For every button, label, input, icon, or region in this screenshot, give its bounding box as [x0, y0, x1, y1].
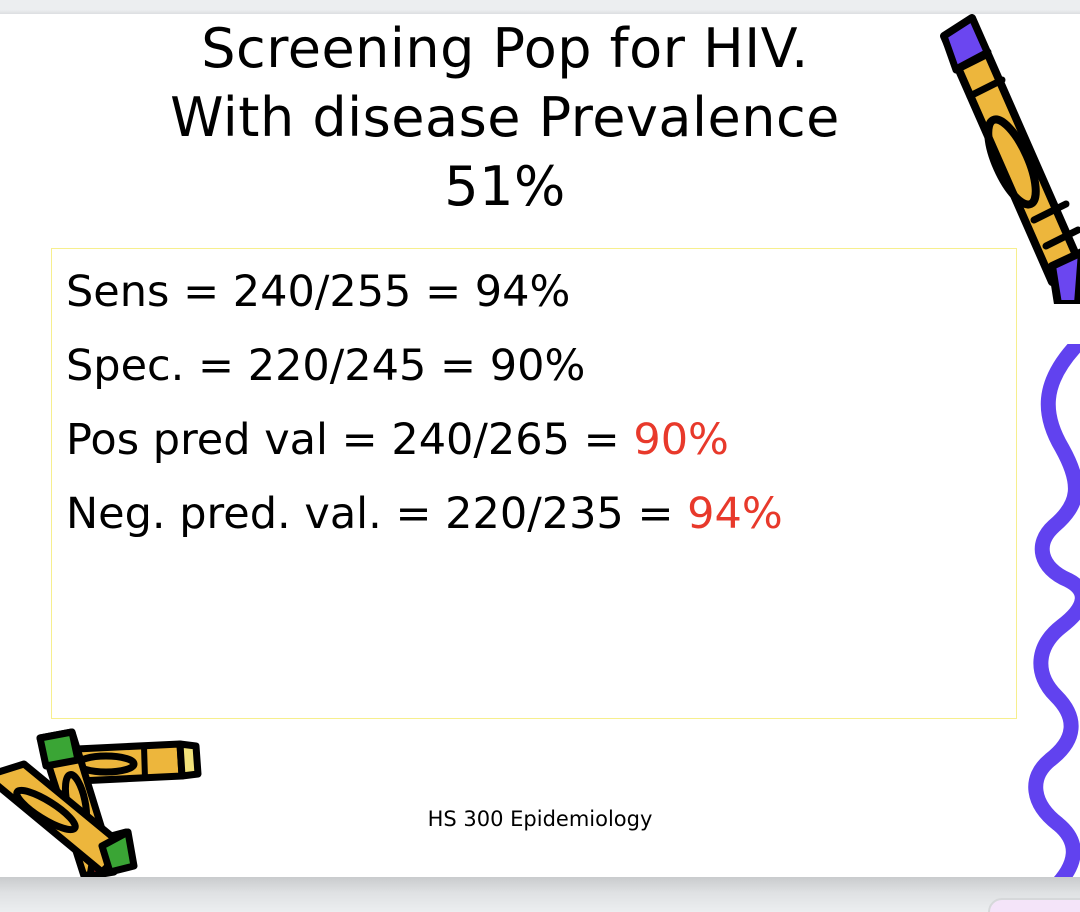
- title-line-2: With disease Prevalence: [0, 83, 1010, 152]
- stat-prefix: Neg. pred. val. = 220/235 =: [66, 489, 687, 539]
- crayons-icon: [0, 720, 204, 882]
- stat-row-specificity: Spec. = 220/245 = 90%: [66, 329, 1006, 403]
- stat-row-positive-predictive-value: Pos pred val = 240/265 = 90%: [66, 403, 1006, 477]
- stat-value: 94%: [687, 489, 783, 539]
- window-bottom-chrome: [0, 877, 1080, 912]
- title-line-1: Screening Pop for HIV.: [0, 14, 1010, 83]
- stat-prefix: Pos pred val = 240/265 =: [66, 415, 633, 465]
- slide-screenshot: Screening Pop for HIV. With disease Prev…: [0, 0, 1080, 912]
- stat-value: 94%: [475, 267, 571, 317]
- bottom-right-panel-tab[interactable]: [988, 898, 1080, 912]
- window-top-chrome: [0, 0, 1080, 14]
- stat-value: 90%: [633, 415, 729, 465]
- stat-row-negative-predictive-value: Neg. pred. val. = 220/235 = 94%: [66, 477, 1006, 551]
- slide-canvas: Screening Pop for HIV. With disease Prev…: [0, 14, 1080, 877]
- slide-footer: HS 300 Epidemiology: [0, 807, 1080, 831]
- stat-prefix: Sens = 240/255 =: [66, 267, 475, 317]
- page-title: Screening Pop for HIV. With disease Prev…: [0, 14, 1010, 221]
- stat-prefix: Spec. = 220/245 =: [66, 341, 490, 391]
- content-box: Sens = 240/255 = 94% Spec. = 220/245 = 9…: [51, 248, 1017, 719]
- stat-row-sensitivity: Sens = 240/255 = 94%: [66, 255, 1006, 329]
- stat-value: 90%: [490, 341, 586, 391]
- stat-list: Sens = 240/255 = 94% Spec. = 220/245 = 9…: [66, 255, 1006, 551]
- title-line-3: 51%: [0, 152, 1010, 221]
